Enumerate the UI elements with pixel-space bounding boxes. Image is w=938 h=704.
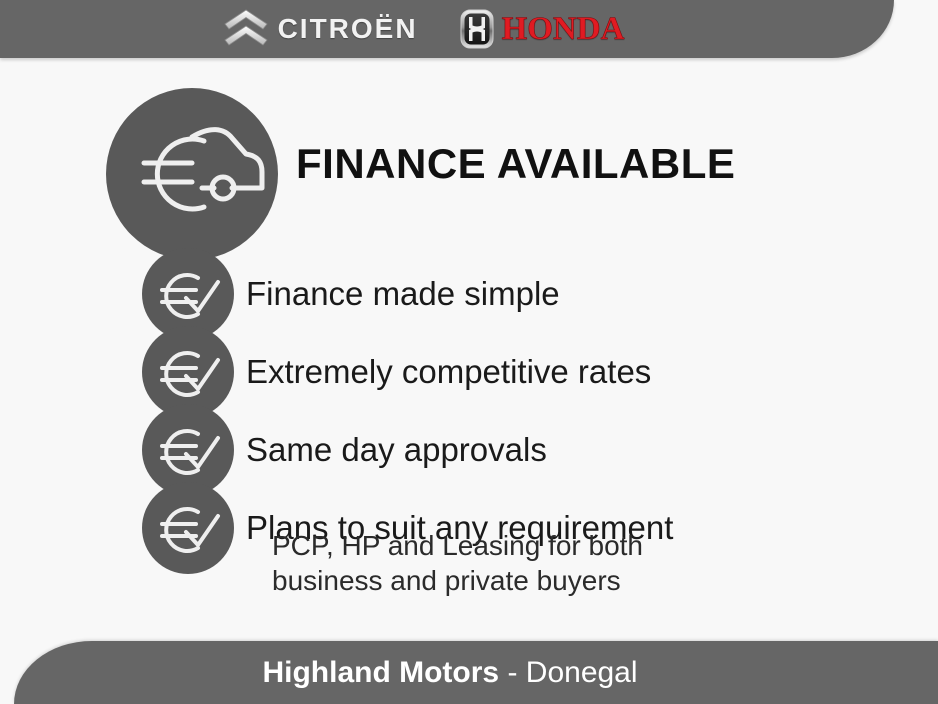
- finance-products-note: PCP, HP and Leasing for both business an…: [272, 528, 643, 598]
- euro-check-icon: [142, 482, 234, 574]
- dealer-name: Highland Motors - Donegal: [262, 656, 637, 690]
- list-item-label: Extremely competitive rates: [246, 355, 651, 390]
- honda-wordmark: HONDA: [502, 13, 625, 46]
- list-item-label: Same day approvals: [246, 433, 547, 468]
- citroen-logo: CITROËN: [222, 8, 418, 50]
- finance-products-line-1: PCP, HP and Leasing for both: [272, 528, 643, 563]
- honda-logo: HONDA: [460, 8, 625, 50]
- main-content: FINANCE AVAILABLE Finance made simple: [0, 58, 938, 641]
- dealer-location: Donegal: [526, 656, 638, 689]
- brand-logo-group: CITROËN: [222, 8, 625, 50]
- honda-h-icon: [460, 8, 494, 50]
- finance-banner: CITROËN: [0, 0, 938, 704]
- footer-bar: Highland Motors - Donegal: [14, 641, 938, 704]
- page-title: FINANCE AVAILABLE: [296, 140, 735, 188]
- citroen-wordmark: CITROËN: [278, 15, 418, 43]
- citroen-chevrons-icon: [222, 8, 270, 50]
- dealer-business-name: Highland Motors: [262, 656, 499, 689]
- finance-products-line-2: business and private buyers: [272, 563, 643, 598]
- list-item-label: Finance made simple: [246, 277, 560, 312]
- dealer-separator: -: [499, 656, 526, 689]
- euro-car-icon: [106, 88, 278, 260]
- header-bar: CITROËN: [0, 0, 894, 58]
